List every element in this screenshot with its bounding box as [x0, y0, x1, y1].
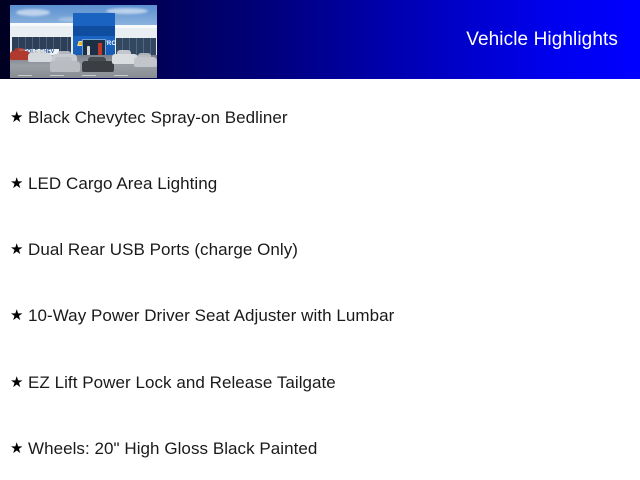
feature-label: LED Cargo Area Lighting	[28, 171, 217, 197]
feature-label: 10-Way Power Driver Seat Adjuster with L…	[28, 303, 394, 329]
list-item: ★ LED Cargo Area Lighting	[10, 171, 217, 197]
list-item: ★ EZ Lift Power Lock and Release Tailgat…	[10, 370, 336, 396]
star-bullet-icon: ★	[10, 370, 28, 396]
vehicle-highlights-list: ★ Black Chevytec Spray-on Bedliner ★ LED…	[0, 79, 640, 480]
vehicle-highlights-slide: COLE CHEV CHEVROLET	[0, 0, 640, 480]
feature-label: Wheels: 20" High Gloss Black Painted	[28, 436, 317, 462]
lot-stripe	[82, 75, 97, 76]
list-item: ★ Wheels: 20" High Gloss Black Painted	[10, 436, 317, 462]
star-bullet-icon: ★	[10, 303, 28, 329]
feature-label: Black Chevytec Spray-on Bedliner	[28, 105, 288, 131]
star-bullet-icon: ★	[10, 436, 28, 462]
lot-stripe	[50, 75, 65, 76]
lot-stripe	[114, 75, 129, 76]
feature-label: Dual Rear USB Ports (charge Only)	[28, 237, 298, 263]
star-bullet-icon: ★	[10, 105, 28, 131]
car-silhouette	[82, 61, 114, 72]
page-title: Vehicle Highlights	[466, 28, 618, 52]
list-item: ★ 10-Way Power Driver Seat Adjuster with…	[10, 303, 394, 329]
star-bullet-icon: ★	[10, 171, 28, 197]
header-banner: COLE CHEV CHEVROLET	[0, 0, 640, 79]
dealership-photo: COLE CHEV CHEVROLET	[10, 5, 157, 78]
tower-brand-band: CHEVROLET	[73, 26, 115, 36]
list-item: ★ Dual Rear USB Ports (charge Only)	[10, 237, 298, 263]
car-silhouette	[50, 61, 80, 72]
car-silhouette	[10, 51, 30, 60]
car-silhouette	[134, 57, 157, 67]
list-item: ★ Black Chevytec Spray-on Bedliner	[10, 105, 288, 131]
cloud-icon	[16, 9, 50, 16]
feature-label: EZ Lift Power Lock and Release Tailgate	[28, 370, 336, 396]
star-bullet-icon: ★	[10, 237, 28, 263]
car-silhouette	[28, 53, 52, 62]
lot-stripe	[18, 75, 33, 76]
showroom-entry-tower: CHEVROLET	[73, 13, 115, 61]
